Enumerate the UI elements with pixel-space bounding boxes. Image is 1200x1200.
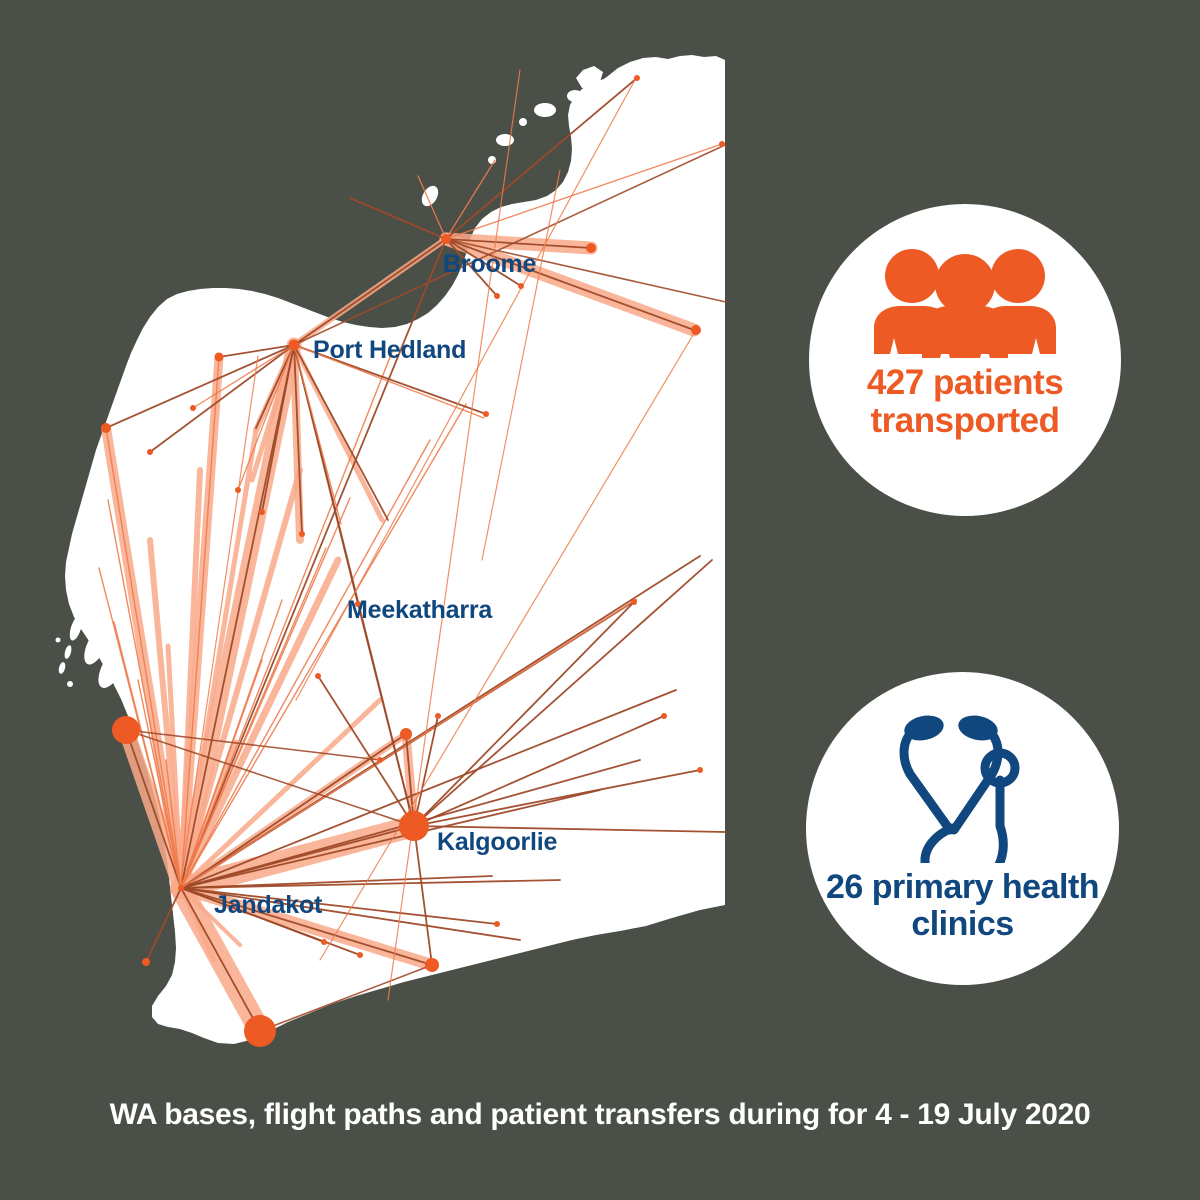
patients-stat-text: 427 patients transported [867,364,1063,440]
patients-line-1: 427 patients [867,364,1063,402]
base-label-broome: Broome [443,250,537,278]
base-marker-kalgoorlie[interactable] [399,811,429,841]
wa-flight-map: Broome Port Hedland Meekatharra Kalgoorl… [0,0,1200,1200]
wa-state-outline [65,60,725,1044]
base-label-kalgoorlie: Kalgoorlie [437,828,558,856]
base-label-jandakot: Jandakot [214,891,323,919]
infographic-page: Broome Port Hedland Meekatharra Kalgoorl… [0,0,1200,1200]
patients-line-2: transported [867,402,1063,440]
landmass [56,55,726,1044]
base-marker-port-hedland[interactable] [289,340,300,351]
base-label-meekatharra: Meekatharra [347,596,493,624]
stat-badge-primary-health-clinics[interactable]: 26 primary health clinics [806,672,1119,985]
base-marker-jandakot[interactable] [178,885,184,891]
people-group-icon [870,246,1060,358]
clinics-stat-text: 26 primary health clinics [826,869,1099,942]
clinics-line-1: 26 primary health [826,869,1099,906]
infographic-caption: WA bases, flight paths and patient trans… [0,1098,1200,1132]
base-marker-geraldton[interactable] [112,716,140,744]
base-label-port-hedland: Port Hedland [313,336,466,364]
stat-badge-patients-transported[interactable]: 427 patients transported [809,204,1121,516]
base-marker-albany[interactable] [244,1015,276,1047]
clinics-line-2: clinics [826,906,1099,943]
base-marker-broome[interactable] [441,234,451,244]
stethoscope-icon [888,708,1038,863]
